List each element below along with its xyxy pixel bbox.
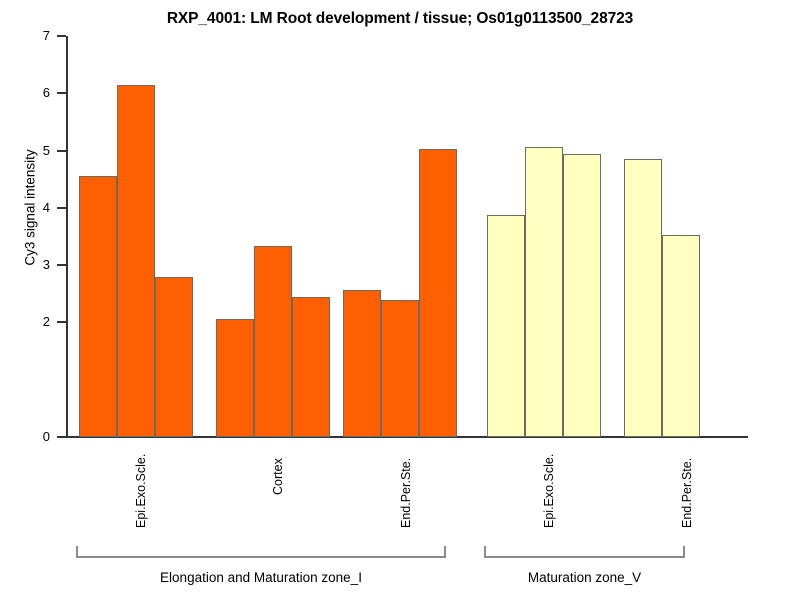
category-label: End.Per.Ste. <box>400 458 412 528</box>
zone-label: Maturation zone_V <box>484 570 685 585</box>
bar <box>624 159 662 437</box>
bar <box>381 300 419 437</box>
bar-chart: RXP_4001: LM Root development / tissue; … <box>0 0 800 600</box>
bar <box>487 215 525 437</box>
bar <box>419 149 457 437</box>
category-label: End.Per.Ste. <box>681 458 693 528</box>
bars-layer <box>0 0 800 437</box>
bar <box>525 147 563 437</box>
bar <box>216 319 254 437</box>
category-label: Cortex <box>272 458 284 495</box>
zone-bracket <box>76 546 446 558</box>
bar <box>117 85 155 437</box>
bar <box>155 277 193 437</box>
bar <box>563 154 601 437</box>
zone-label: Elongation and Maturation zone_I <box>76 570 446 585</box>
zone-bracket <box>484 546 685 558</box>
bar <box>254 246 292 437</box>
category-label: Epi.Exo.Scle. <box>543 454 555 528</box>
category-label: Epi.Exo.Scle. <box>135 454 147 528</box>
bar <box>662 235 700 437</box>
bar <box>343 290 381 437</box>
bar <box>79 176 117 437</box>
bar <box>292 297 330 437</box>
